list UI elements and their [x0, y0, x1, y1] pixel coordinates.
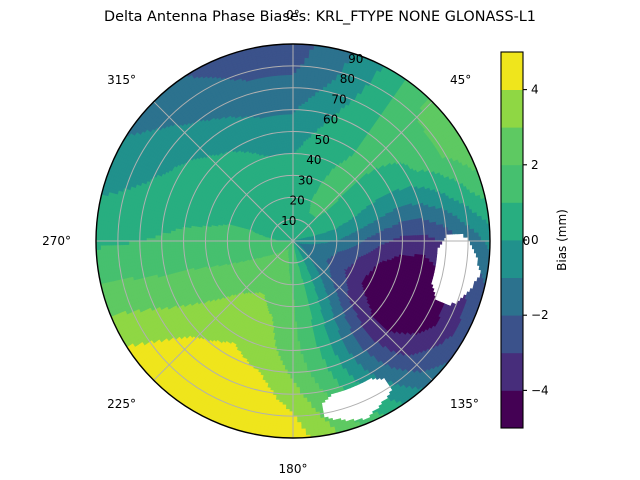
figure-canvas: Delta Antenna Phase Biases: KRL_FTYPE NO…	[0, 0, 640, 480]
page-title: Delta Antenna Phase Biases: KRL_FTYPE NO…	[104, 9, 536, 25]
